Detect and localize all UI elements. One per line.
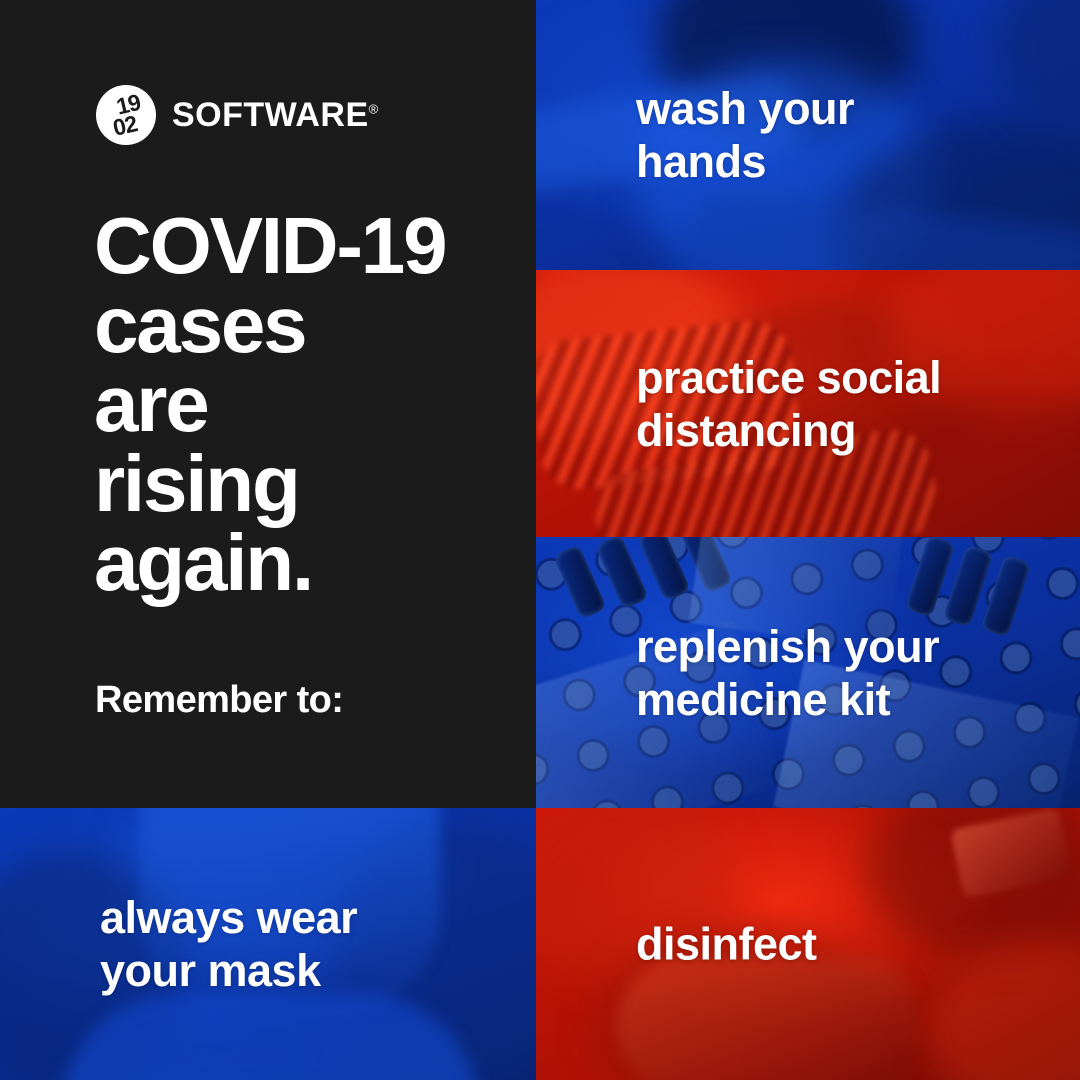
brand-wordmark-text: SOFTWARE [172,96,369,134]
panel-label-mask: always wear your mask [100,891,357,997]
brand-message-panel: 19 02 SOFTWARE® COVID-19 cases are risin… [0,0,536,808]
panel-label-disinfect: disinfect [636,917,817,970]
panel-wash-your-hands: wash your hands [536,0,1080,270]
panel-label-medicine: replenish your medicine kit [636,619,939,725]
registered-trademark-icon: ® [369,101,379,116]
panel-label-wash: wash your hands [636,82,854,188]
subheading: Remember to: [95,679,343,722]
panel-social-distancing: practice social distancing [536,270,1080,537]
page-title: COVID-19 cases are rising again. [94,206,445,602]
covid-awareness-poster: wash your hands practice social distanci… [0,0,1080,1080]
brand-logo: 19 02 SOFTWARE® [96,85,378,145]
panel-medicine-kit: replenish your medicine kit [536,537,1080,808]
panel-wear-mask: always wear your mask [0,808,536,1080]
logo-digits-bottom: 02 [111,113,139,138]
1902-circle-logo-icon: 19 02 [96,85,156,145]
panel-disinfect: disinfect [536,808,1080,1080]
panel-label-distance: practice social distancing [636,350,941,456]
brand-wordmark: SOFTWARE® [172,96,378,135]
